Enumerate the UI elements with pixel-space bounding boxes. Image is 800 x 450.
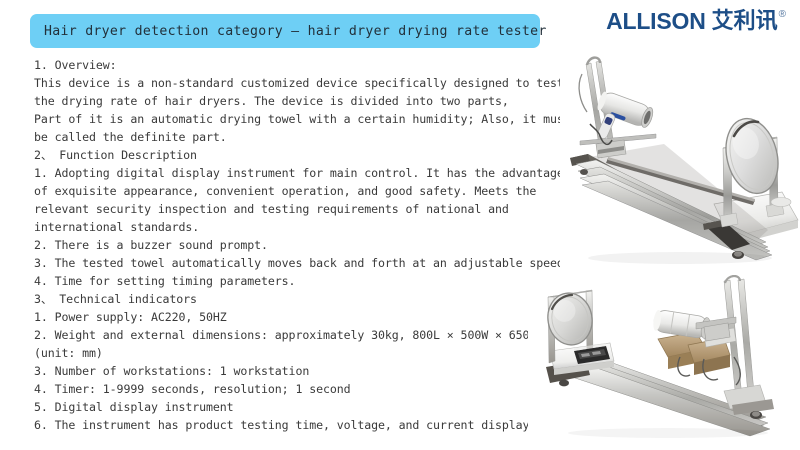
description-text-block: 1. Overview: This device is a non-standa… (34, 56, 574, 434)
text-line: This device is a non-standard customized… (34, 74, 574, 92)
text-line: 5. Digital display instrument (34, 398, 574, 416)
text-line: be called the definite part. (34, 128, 574, 146)
product-photo-side (528, 275, 800, 445)
title-banner: Hair dryer detection category – hair dry… (30, 14, 540, 48)
text-line: 1. Overview: (34, 56, 574, 74)
product-photo-angled (560, 52, 800, 277)
text-line: relevant security inspection and testing… (34, 200, 574, 218)
text-line: 2. There is a buzzer sound prompt. (34, 236, 574, 254)
brand-logo: ALLISON 艾利讯 ® (606, 9, 786, 39)
text-line: 1. Power supply: AC220, 50HZ (34, 308, 574, 326)
text-line: Part of it is an automatic drying towel … (34, 110, 574, 128)
logo-chinese-name: 艾利讯 (712, 9, 778, 34)
text-line: 4. Time for setting timing parameters. (34, 272, 574, 290)
text-line: of exquisite appearance, convenient oper… (34, 182, 574, 200)
text-line: 6. The instrument has product testing ti… (34, 416, 574, 434)
text-line: 2. Weight and external dimensions: appro… (34, 326, 574, 344)
registered-trademark-icon: ® (779, 10, 786, 20)
text-line: 1. Adopting digital display instrument f… (34, 164, 574, 182)
text-line: 4. Timer: 1-9999 seconds, resolution; 1 … (34, 380, 574, 398)
text-line: international standards. (34, 218, 574, 236)
text-line: 3. Number of workstations: 1 workstation (34, 362, 574, 380)
text-line: 3. The tested towel automatically moves … (34, 254, 574, 272)
page-header: Hair dryer detection category – hair dry… (0, 0, 800, 52)
page-title: Hair dryer detection category – hair dry… (44, 24, 547, 39)
logo-wordmark: ALLISON (606, 9, 706, 34)
text-line: 3、 Technical indicators (34, 290, 574, 308)
text-line: (unit: mm) (34, 344, 574, 362)
text-line: the drying rate of hair dryers. The devi… (34, 92, 574, 110)
text-line: 2、 Function Description (34, 146, 574, 164)
